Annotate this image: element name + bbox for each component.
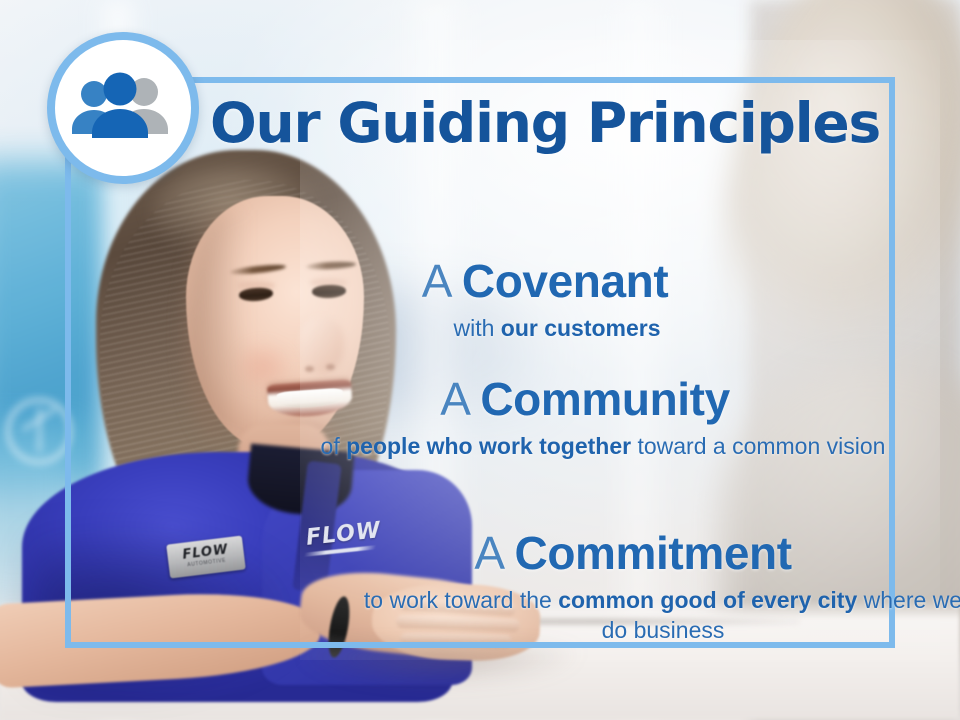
page-title: Our Guiding Principles bbox=[200, 95, 890, 151]
principle-subtext: to work toward the common good of every … bbox=[288, 585, 960, 646]
principle-article: A bbox=[440, 373, 468, 425]
principle-covenant: A Covenant with our customers bbox=[200, 258, 890, 343]
subtext-part: of bbox=[321, 433, 347, 459]
principle-keyword: Community bbox=[480, 373, 729, 425]
principle-title: A Commitment bbox=[288, 530, 960, 578]
principle-title: A Covenant bbox=[200, 258, 890, 306]
principle-keyword: Covenant bbox=[462, 255, 668, 307]
subtext-part: toward a common vision bbox=[631, 433, 885, 459]
people-group-badge bbox=[47, 32, 199, 184]
people-group-icon bbox=[70, 72, 176, 144]
subtext-part: to work toward the bbox=[364, 587, 558, 613]
text-content: Our Guiding Principles A Covenant with o… bbox=[200, 80, 900, 650]
subtext-part-bold: people who work together bbox=[346, 433, 631, 459]
principle-keyword: Commitment bbox=[515, 527, 792, 579]
principle-commitment: A Commitment to work toward the common g… bbox=[288, 530, 960, 646]
subtext-part-bold: our customers bbox=[501, 315, 661, 341]
principle-community: A Community of people who work together … bbox=[240, 376, 930, 461]
principle-subtext: with our customers bbox=[200, 313, 890, 343]
guiding-principles-graphic: FLOW FLOW AUTOMOTIVE bbox=[0, 0, 960, 720]
hand-shadow bbox=[300, 646, 580, 686]
principle-title: A Community bbox=[240, 376, 930, 424]
subtext-part-bold: common good of every city bbox=[558, 587, 857, 613]
principle-article: A bbox=[422, 255, 450, 307]
principle-article: A bbox=[474, 527, 502, 579]
subtext-part: with bbox=[453, 315, 500, 341]
principle-subtext: of people who work together toward a com… bbox=[240, 431, 930, 461]
